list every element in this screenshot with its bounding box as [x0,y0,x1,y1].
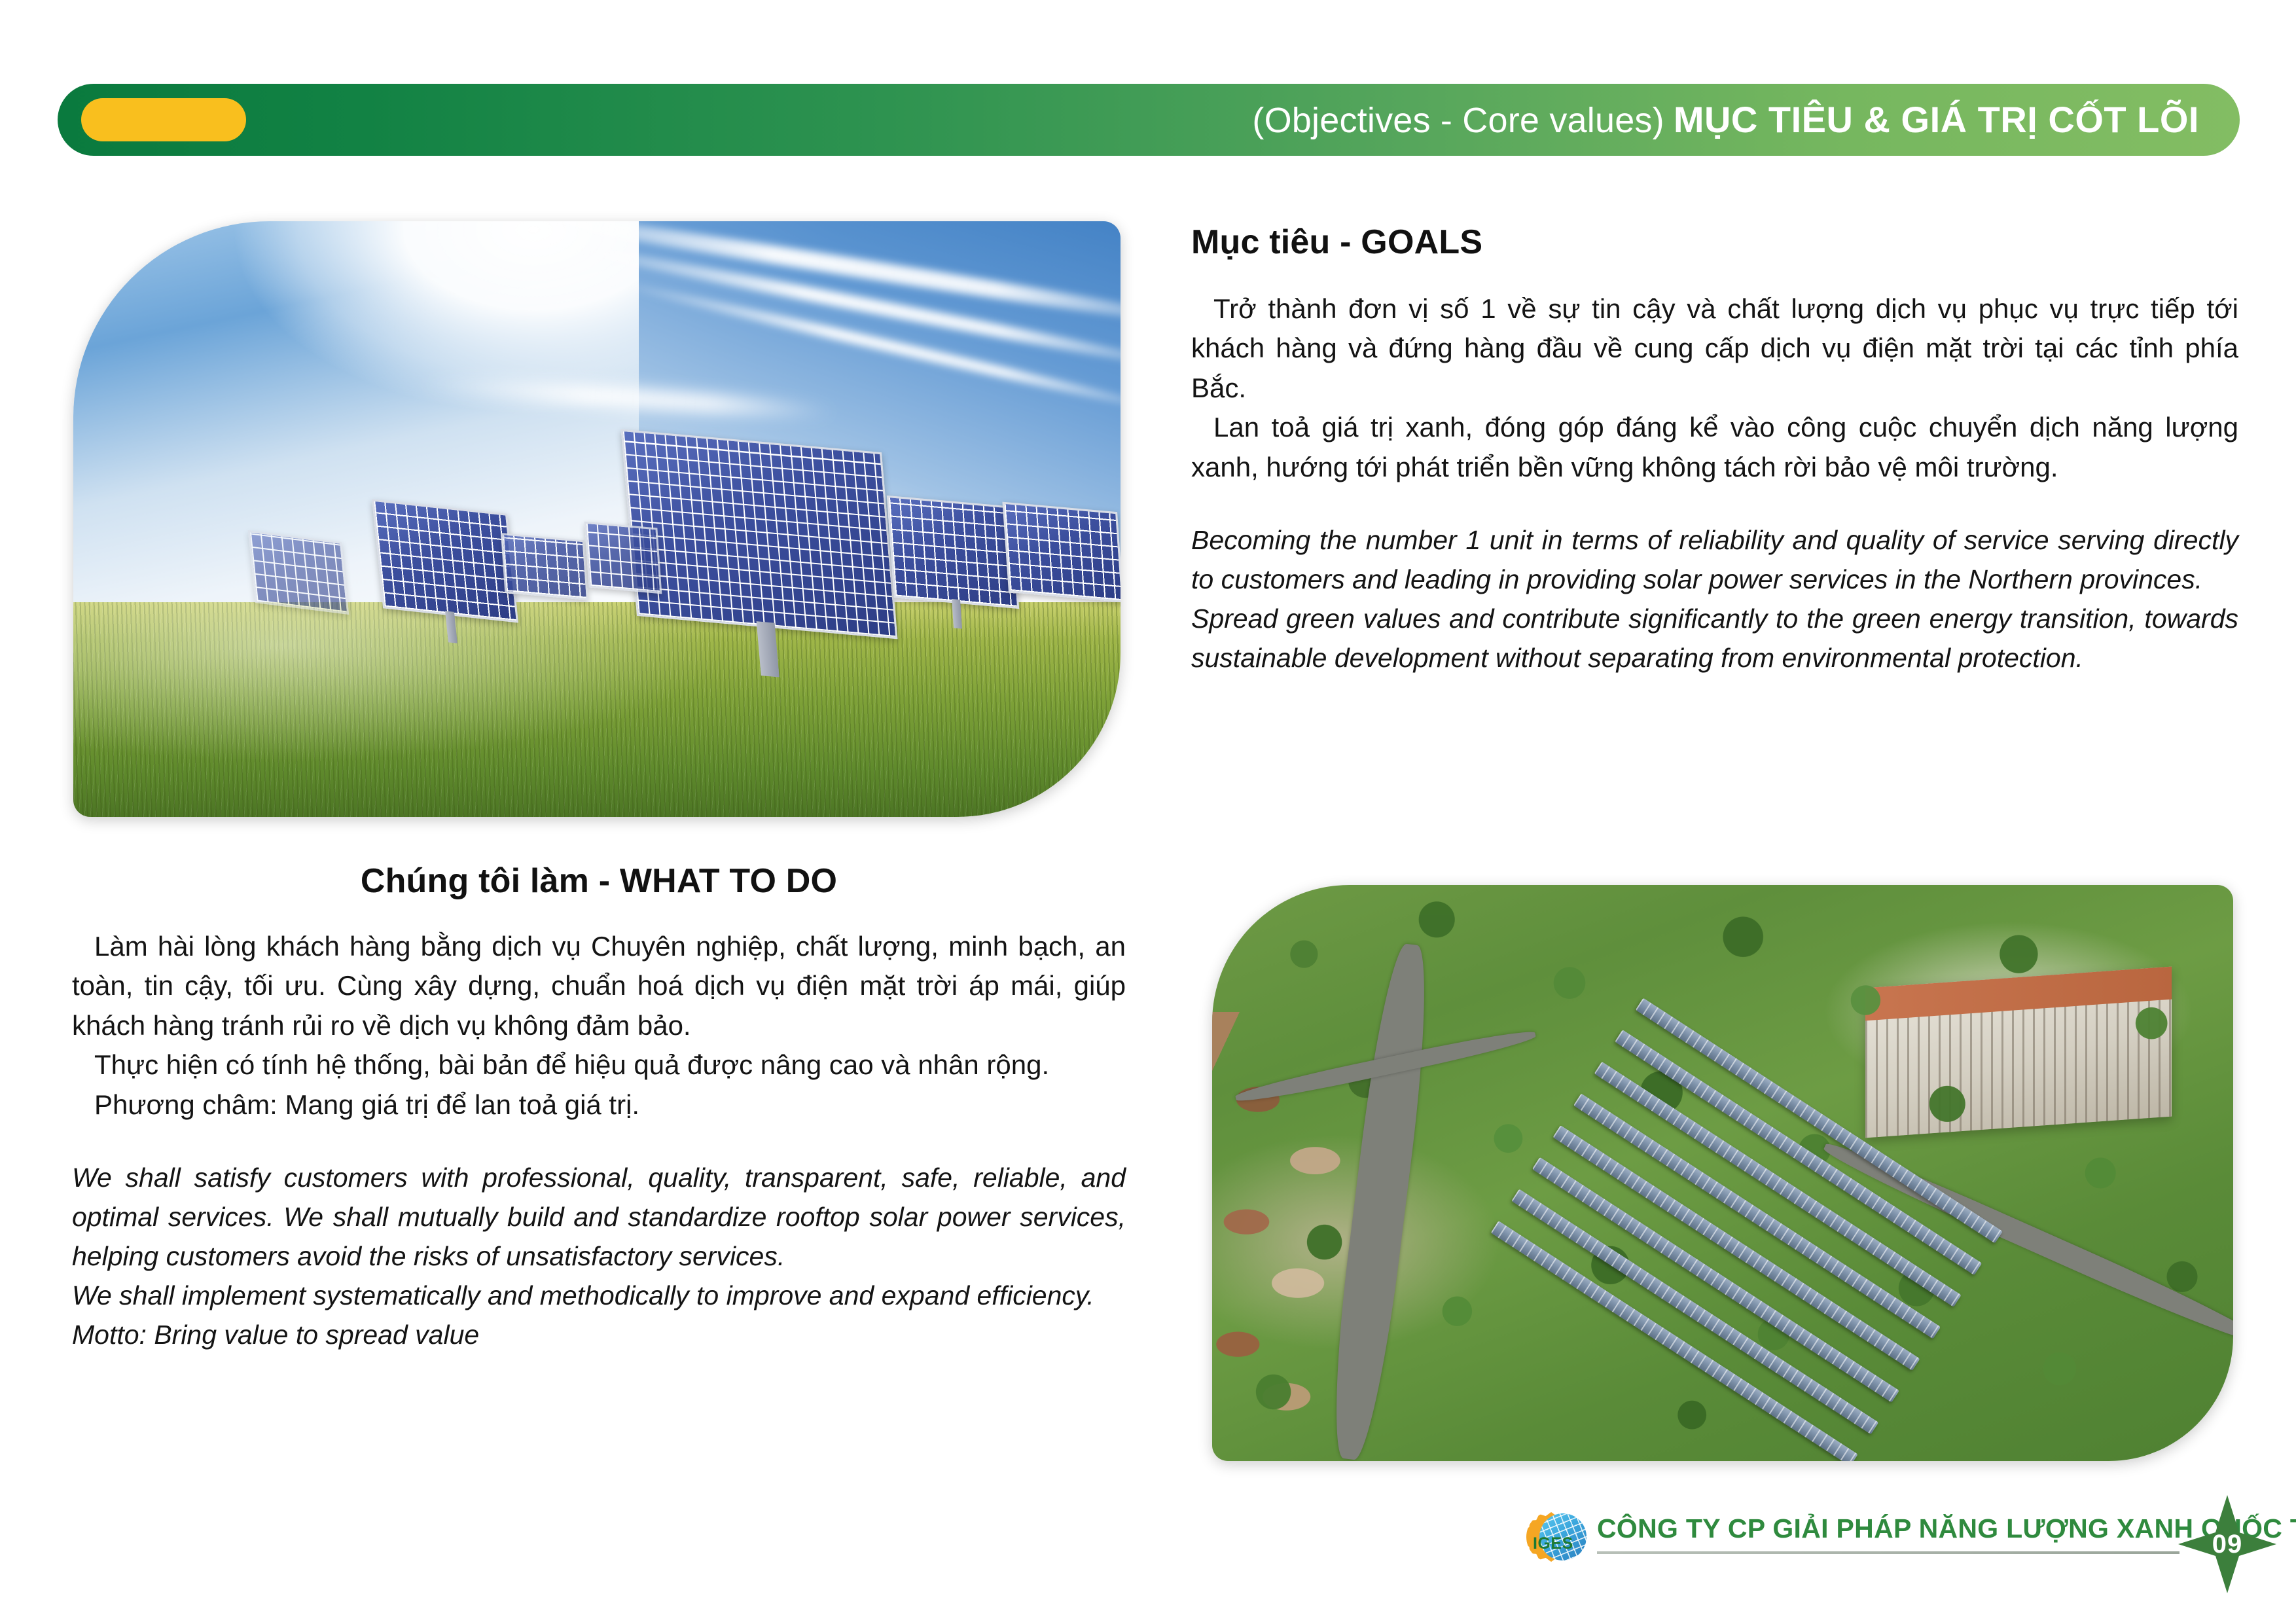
goals-vi-text-2: Lan toả giá trị xanh, đóng góp đáng kể v… [1191,412,2238,482]
solar-panel [501,533,588,600]
spacer [72,1125,1126,1159]
whattodo-vi-paragraph-2: Thực hiện có tính hệ thống, bài bản để h… [72,1045,1126,1085]
page-title-english: (Objectives - Core values) [1252,103,1664,138]
solar-field-image [73,221,1121,817]
goals-en-text-2: Spread green values and contribute signi… [1191,604,2238,673]
header-accent-pill [81,98,246,141]
page-title-vietnamese: MỤC TIÊU & GIÁ TRỊ CỐT LÕI [1664,101,2199,138]
grass-field [73,602,1121,817]
what-to-do-heading: Chúng tôi làm - WHAT TO DO [72,861,1126,901]
panel-leg [952,598,962,628]
page-number-badge: 09 [2178,1495,2276,1593]
page-number: 09 [2212,1530,2243,1559]
goals-vi-paragraph-1: Trở thành đơn vị số 1 về sự tin cậy và c… [1191,289,2238,408]
page-footer: IGES CÔNG TY CP GIẢI PHÁP NĂNG LƯỢNG XAN… [1525,1500,2265,1584]
whattodo-vi-paragraph-1: Làm hài lòng khách hàng bằng dịch vụ Chu… [72,927,1126,1045]
whattodo-vi-paragraph-3: Phương châm: Mang giá trị để lan toả giá… [72,1085,1126,1125]
whattodo-en-text-2: We shall implement systematically and me… [72,1280,1094,1310]
whattodo-vi-text-3: Phương châm: Mang giá trị để lan toả giá… [94,1089,639,1120]
goals-en-paragraph-1: Becoming the number 1 unit in terms of r… [1191,521,2238,600]
whattodo-en-paragraph-1: We shall satisfy customers with professi… [72,1159,1126,1276]
goals-vi-paragraph-2: Lan toả giá trị xanh, đóng góp đáng kể v… [1191,408,2238,487]
whattodo-en-text-1: We shall satisfy customers with professi… [72,1163,1126,1271]
whattodo-en-text-3: Motto: Bring value to spread value [72,1320,479,1350]
solar-panel [1002,501,1121,602]
logo-wordmark: IGES [1533,1534,1573,1553]
whattodo-en-paragraph-3: Motto: Bring value to spread value [72,1316,1126,1355]
solar-panel [584,522,662,594]
whattodo-vi-text-2: Thực hiện có tính hệ thống, bài bản để h… [94,1049,1049,1080]
whattodo-vi-text-1: Làm hài lòng khách hàng bằng dịch vụ Chu… [72,931,1126,1041]
solar-panel [248,530,350,615]
solar-panel-primary [620,429,897,639]
aerial-solar-image-inner [1212,885,2233,1461]
goals-heading: Mục tiêu - GOALS [1191,223,2238,262]
page-header-banner: (Objectives - Core values) MỤC TIÊU & GI… [58,84,2240,156]
what-to-do-section: Chúng tôi làm - WHAT TO DO Làm hài lòng … [72,861,1126,1355]
page-title: (Objectives - Core values) MỤC TIÊU & GI… [1252,101,2240,138]
iges-logo-icon: IGES [1525,1509,1588,1572]
whattodo-en-paragraph-2: We shall implement systematically and me… [72,1276,1126,1316]
solar-field-image-inner [73,221,1121,817]
goals-en-paragraph-2: Spread green values and contribute signi… [1191,600,2238,678]
aerial-solar-image [1212,885,2233,1461]
goals-section: Mục tiêu - GOALS Trở thành đơn vị số 1 v… [1191,223,2238,678]
footer-divider [1597,1551,2179,1554]
solar-panel [887,496,1019,609]
company-name: CÔNG TY CP GIẢI PHÁP NĂNG LƯỢNG XANH QUỐ… [1597,1513,2296,1544]
solar-panel [372,499,518,623]
goals-vi-text-1: Trở thành đơn vị số 1 về sự tin cậy và c… [1191,293,2238,403]
spacer [1191,487,2238,521]
goals-en-text-1: Becoming the number 1 unit in terms of r… [1191,525,2238,594]
